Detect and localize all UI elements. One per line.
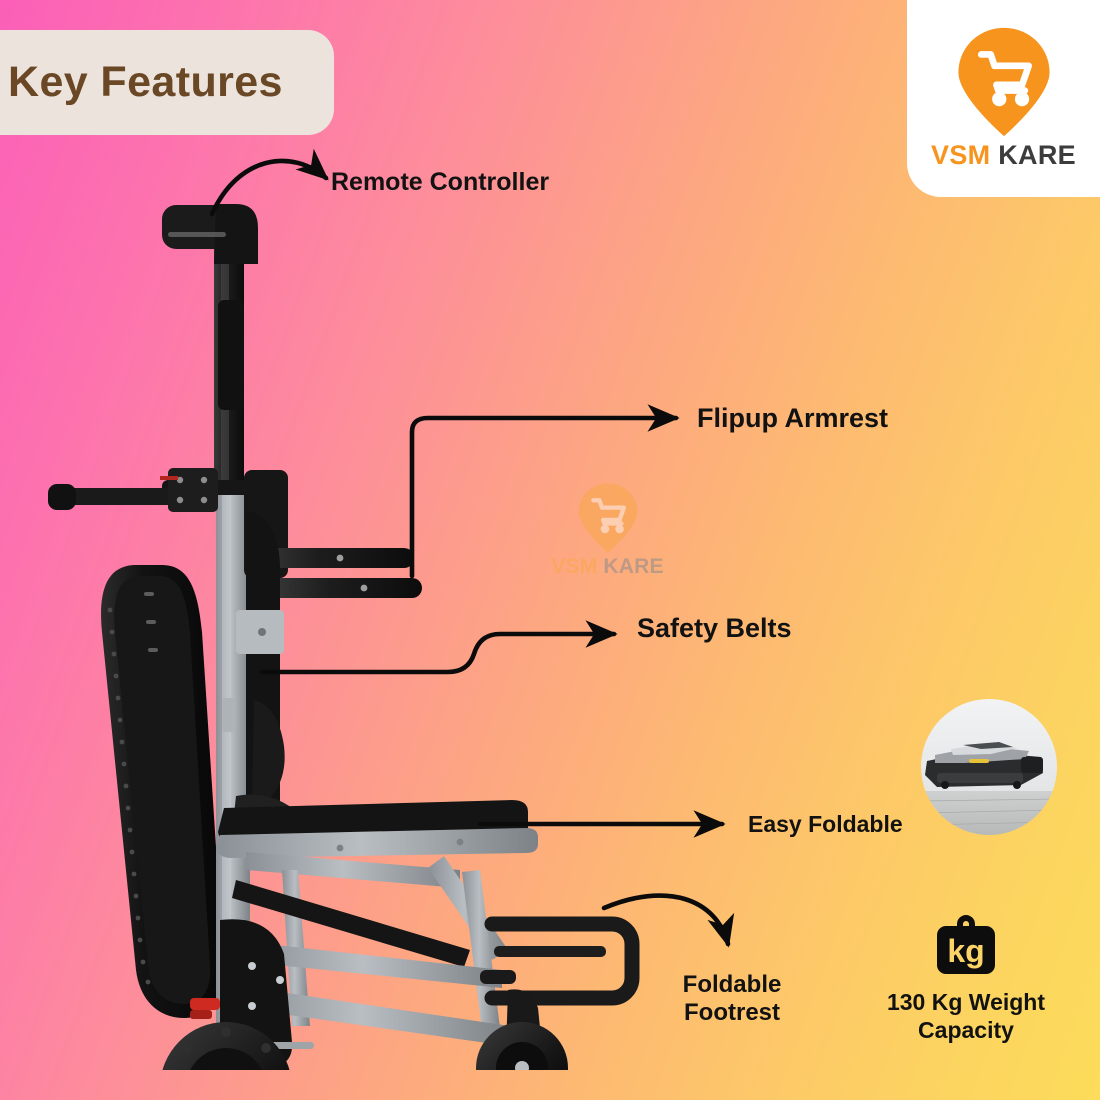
brand-name: VSM KARE <box>931 140 1076 171</box>
weight-icon-label: kg <box>947 933 984 969</box>
product-seat <box>216 800 538 858</box>
brand-logo-card: VSM KARE <box>907 0 1100 197</box>
brand-name-kare: KARE <box>998 140 1076 170</box>
map-pin-cart-icon <box>956 26 1052 138</box>
feature-label-safety-belts: Safety Belts <box>637 613 792 645</box>
infographic-canvas: VSM KARE Remote Controller Flipup Armres… <box>0 0 1100 1100</box>
feature-label-flipup-armrest: Flipup Armrest <box>697 403 888 435</box>
weight-kg-icon: kg <box>933 908 999 976</box>
feature-label-remote-controller: Remote Controller <box>331 168 549 197</box>
folded-product-inset <box>921 699 1057 835</box>
weight-capacity-text: 130 Kg Weight Capacity <box>887 989 1045 1044</box>
page-title-banner: Key Features <box>0 30 334 135</box>
page-title: Key Features <box>8 61 283 104</box>
feature-label-foldable-footrest: Foldable Footrest <box>600 971 864 1027</box>
weight-capacity-block: kg 130 Kg Weight Capacity <box>848 908 1084 1044</box>
product-track <box>101 565 224 1018</box>
brand-name-vsm: VSM <box>931 140 990 170</box>
feature-label-easy-foldable: Easy Foldable <box>748 811 903 838</box>
product-image <box>40 180 660 1070</box>
product-release-lever <box>190 998 220 1010</box>
